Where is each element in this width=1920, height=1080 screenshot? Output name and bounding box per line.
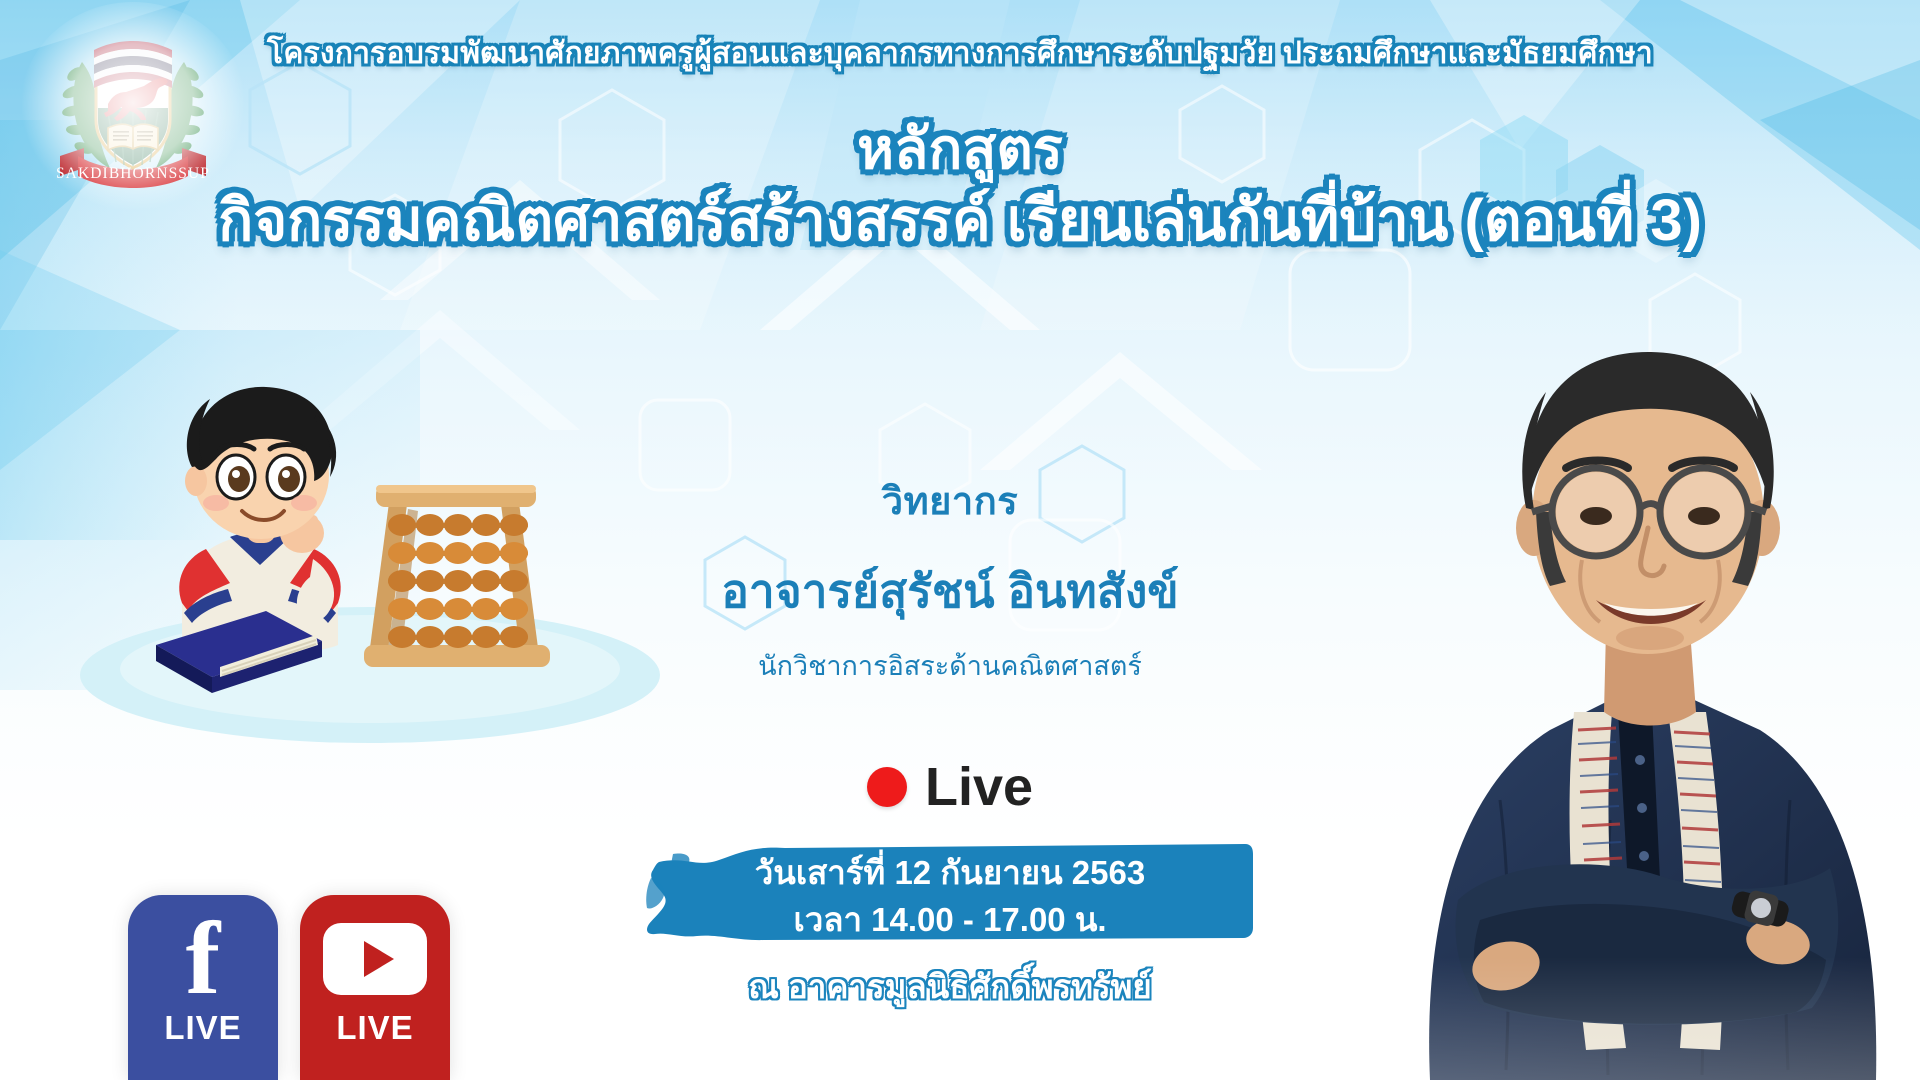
schedule-date: วันเสาร์ที่ 12 กันยายน 2563	[645, 850, 1255, 897]
poster-root: SAKDIBHORNSSUP โครงการอบรมพัฒนาศักยภาพคร…	[0, 0, 1920, 1080]
abacus	[364, 485, 550, 667]
live-indicator: Live	[640, 760, 1260, 814]
schedule-text-wrap: วันเสาร์ที่ 12 กันยายน 2563 เวลา 14.00 -…	[645, 850, 1255, 944]
schedule-time: เวลา 14.00 - 17.00 น.	[645, 897, 1255, 944]
speaker-name: อาจารย์สุรัชน์ อินทสังข์	[640, 555, 1260, 628]
title-block: หลักสูตร กิจกรรมคณิตศาสตร์สร้างสรรค์ เรี…	[0, 120, 1920, 252]
speaker-label: วิทยากร	[640, 470, 1260, 531]
live-label: Live	[925, 760, 1033, 814]
title-kicker: หลักสูตร	[0, 120, 1920, 177]
speaker-info-block: วิทยากร อาจารย์สุรัชน์ อินทสังข์ นักวิชา…	[640, 470, 1260, 687]
facebook-live-label: LIVE	[164, 1009, 241, 1047]
program-header-line: โครงการอบรมพัฒนาศักยภาพครูผู้สอนและบุคลา…	[0, 30, 1920, 77]
boy-with-abacus-illustration	[70, 345, 680, 765]
youtube-live-label: LIVE	[336, 1009, 413, 1047]
speaker-photo	[1360, 260, 1920, 1080]
facebook-live-button[interactable]: f LIVE	[128, 895, 278, 1080]
social-live-buttons: f LIVE LIVE	[128, 895, 450, 1080]
live-record-dot	[867, 767, 907, 807]
course-title: กิจกรรมคณิตศาสตร์สร้างสรรค์ เรียนเล่นกัน…	[0, 191, 1920, 252]
speaker-role: นักวิชาการอิสระด้านคณิตศาสตร์	[640, 644, 1260, 687]
youtube-icon	[323, 911, 427, 1007]
schedule-banner: วันเสาร์ที่ 12 กันยายน 2563 เวลา 14.00 -…	[645, 838, 1255, 946]
venue-text: ณ อาคารมูลนิธิศักดิ์พรทรัพย์	[640, 960, 1260, 1013]
youtube-live-button[interactable]: LIVE	[300, 895, 450, 1080]
facebook-icon: f	[186, 911, 221, 1007]
